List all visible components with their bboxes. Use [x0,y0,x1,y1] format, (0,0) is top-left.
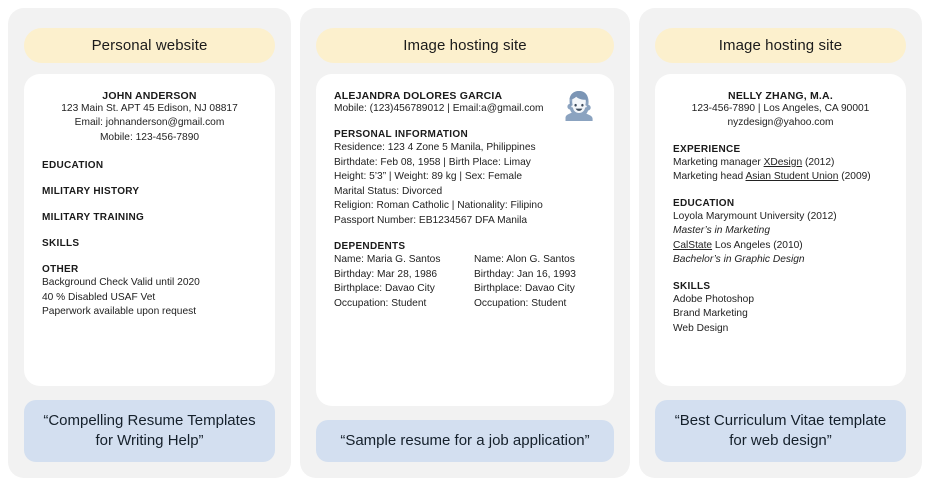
dependent-2-birthday: Birthday: Jan 16, 1993 [474,268,596,282]
dependent-column-2: Name: Alon G. Santos Birthday: Jan 16, 1… [474,253,596,311]
resume-examples-board: Personal website JOHN ANDERSON 123 Main … [0,0,930,488]
section-heading-skills-3: SKILLS [673,281,888,292]
resume-contact-phone-3: 123-456-7890 | Los Angeles, CA 90001 [673,102,888,116]
resume-panel-1: Personal website JOHN ANDERSON 123 Main … [8,8,291,478]
personal-info-birthdate: Birthdate: Feb 08, 1958 | Birth Place: L… [334,156,596,170]
education-entry-1-school: Loyola Marymount University (2012) [673,210,888,224]
dependents-columns: Name: Maria G. Santos Birthday: Mar 28, … [334,253,596,311]
skill-line-1: Adobe Photoshop [673,293,888,307]
other-line-3: Paperwork available upon request [42,305,257,319]
dependent-1-name: Name: Maria G. Santos [334,253,456,267]
experience-entry-1-role: Marketing manager [673,157,764,168]
resume-name-3: NELLY ZHANG, M.A. [673,90,888,102]
education-entry-2-degree: Bachelor’s in Graphic Design [673,253,888,267]
site-tag-3: Image hosting site [655,28,906,63]
education-entry-2-rest: Los Angeles (2010) [712,240,803,251]
section-heading-dependents: DEPENDENTS [334,241,596,252]
dependent-1-occupation: Occupation: Student [334,297,456,311]
personal-info-residence: Residence: 123 4 Zone 5 Manila, Philippi… [334,141,596,155]
resume-card-1: JOHN ANDERSON 123 Main St. APT 45 Edison… [24,74,275,386]
education-entry-1-degree: Master’s in Marketing [673,224,888,238]
section-heading-skills: SKILLS [42,238,257,249]
experience-entry-1: Marketing manager XDesign (2012) [673,156,888,170]
caption-1: “Compelling Resume Templates for Writing… [24,400,275,462]
other-line-1: Background Check Valid until 2020 [42,276,257,290]
skill-line-3: Web Design [673,322,888,336]
resume-contact-email-1: Email: johnanderson@gmail.com [42,116,257,130]
resume-contact-mobile-1: Mobile: 123-456-7890 [42,131,257,145]
other-line-2: 40 % Disabled USAF Vet [42,291,257,305]
experience-entry-2: Marketing head Asian Student Union (2009… [673,170,888,184]
dependent-1-birthday: Birthday: Mar 28, 1986 [334,268,456,282]
resume-contact-2: Mobile: (123)456789012 | Email:a@gmail.c… [334,102,596,116]
dependent-2-birthplace: Birthplace: Davao City [474,282,596,296]
site-tag-2: Image hosting site [316,28,614,63]
personal-info-marital-status: Marital Status: Divorced [334,185,596,199]
caption-3: “Best Curriculum Vitae template for web … [655,400,906,462]
resume-card-3: NELLY ZHANG, M.A. 123-456-7890 | Los Ang… [655,74,906,386]
section-heading-personal-information: PERSONAL INFORMATION [334,129,596,140]
section-heading-education: EDUCATION [42,160,257,171]
resume-panel-2: Image hosting site ALEJANDRA DOLORES GAR… [300,8,630,478]
section-heading-military-history: MILITARY HISTORY [42,186,257,197]
experience-entry-2-year: (2009) [838,171,870,182]
personal-info-height: Height: 5’3” | Weight: 89 kg | Sex: Fema… [334,170,596,184]
experience-entry-1-link[interactable]: XDesign [764,157,803,168]
education-entry-2-link[interactable]: CalState [673,240,712,251]
resume-name-2: ALEJANDRA DOLORES GARCIA [334,90,596,102]
dependent-2-occupation: Occupation: Student [474,297,596,311]
dependent-column-1: Name: Maria G. Santos Birthday: Mar 28, … [334,253,456,311]
avatar-face-icon [562,88,596,122]
experience-entry-1-year: (2012) [802,157,834,168]
section-heading-military-training: MILITARY TRAINING [42,212,257,223]
experience-entry-2-role: Marketing head [673,171,746,182]
experience-entry-2-link[interactable]: Asian Student Union [746,171,839,182]
dependent-2-name: Name: Alon G. Santos [474,253,596,267]
skill-line-2: Brand Marketing [673,307,888,321]
section-heading-other: OTHER [42,264,257,275]
section-heading-experience: EXPERIENCE [673,144,888,155]
caption-2: “Sample resume for a job application” [316,420,614,462]
personal-info-passport: Passport Number: EB1234567 DFA Manila [334,214,596,228]
resume-name-1: JOHN ANDERSON [42,90,257,102]
section-heading-education-3: EDUCATION [673,198,888,209]
dependent-1-birthplace: Birthplace: Davao City [334,282,456,296]
resume-card-2: ALEJANDRA DOLORES GARCIA Mobile: (123)45… [316,74,614,406]
resume-contact-email-3: nyzdesign@yahoo.com [673,116,888,130]
education-entry-2-school: CalState Los Angeles (2010) [673,239,888,253]
site-tag-1: Personal website [24,28,275,63]
resume-contact-address-1: 123 Main St. APT 45 Edison, NJ 08817 [42,102,257,116]
personal-info-religion: Religion: Roman Catholic | Nationality: … [334,199,596,213]
resume-panel-3: Image hosting site NELLY ZHANG, M.A. 123… [639,8,922,478]
